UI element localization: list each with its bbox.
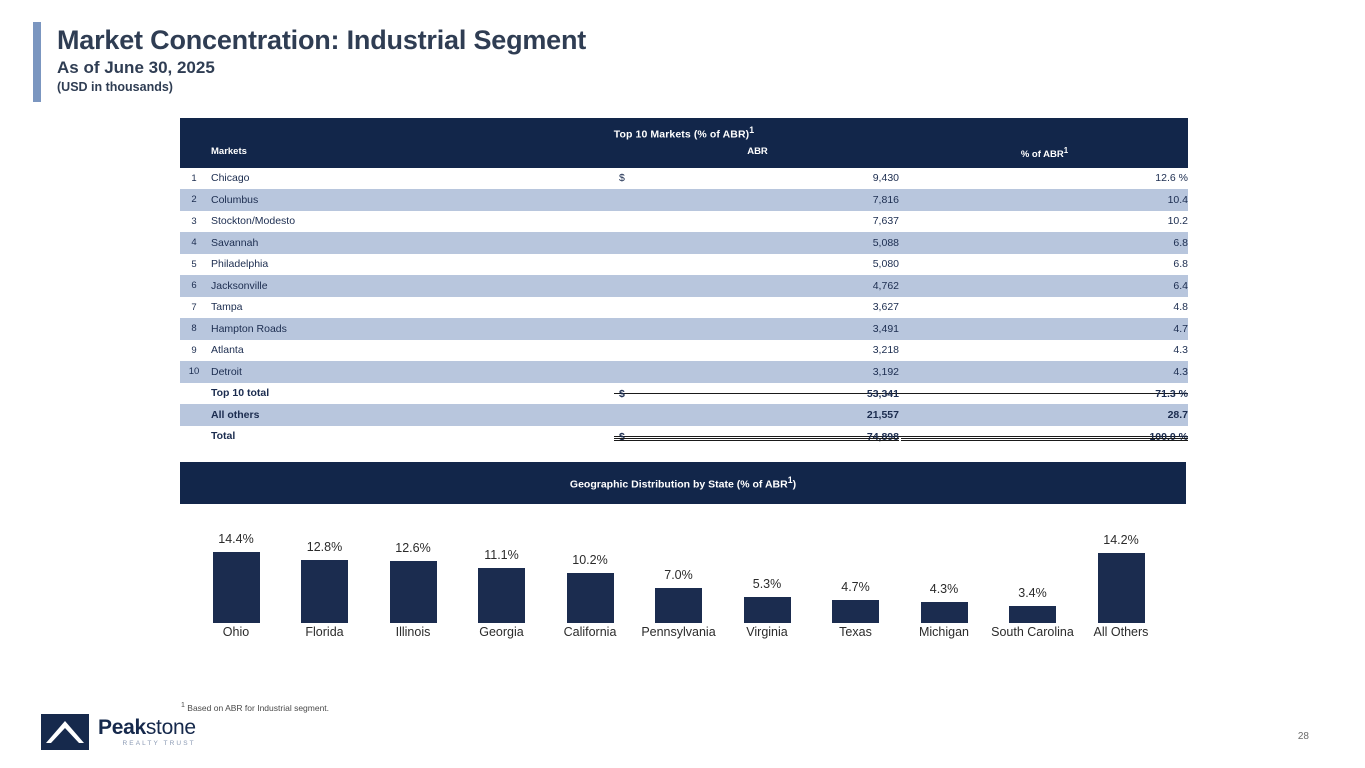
- cell-rank: 10: [180, 366, 208, 377]
- page-number: 28: [1298, 731, 1309, 742]
- cell-abr-value: 5,080: [873, 258, 899, 270]
- table-row: 2Columbus7,81610.4: [180, 189, 1188, 211]
- cell-abr-value: 5,088: [873, 237, 899, 249]
- bar: [744, 597, 791, 623]
- bar: [1098, 553, 1145, 623]
- bar-group: 3.4%South Carolina: [989, 512, 1077, 677]
- chart-title-suffix: ): [793, 479, 797, 491]
- bar-value-label: 10.2%: [546, 553, 634, 567]
- table-row: 3Stockton/Modesto7,63710.2: [180, 211, 1188, 233]
- bar-category-label: All Others: [1069, 625, 1173, 641]
- chart-title: Geographic Distribution by State (% of A…: [570, 475, 796, 491]
- cell-total-label: Top 10 total: [208, 387, 614, 399]
- cell-market: Savannah: [208, 237, 614, 249]
- cell-pct-value: 6.8: [1173, 258, 1188, 270]
- cell-rank: 1: [180, 173, 208, 184]
- table-row: 1Chicago$9,43012.6 %: [180, 168, 1188, 190]
- column-header-pct-text: % of ABR: [1021, 149, 1064, 160]
- bar-group: 14.2%All Others: [1077, 512, 1165, 677]
- bar-group: 14.4%Ohio: [192, 512, 280, 677]
- footnote-marker: 1: [181, 702, 185, 709]
- logo-tagline: REALTY TRUST: [98, 740, 196, 747]
- table-total-row-total: Total$74,898100.0 %: [180, 426, 1188, 448]
- bar-group: 10.2%California: [546, 512, 634, 677]
- slide-root: Market Concentration: Industrial Segment…: [0, 0, 1365, 768]
- cell-pct-value: 10.2: [1168, 215, 1188, 227]
- table-row: 8Hampton Roads3,4914.7: [180, 318, 1188, 340]
- cell-abr-value: 7,816: [873, 194, 899, 206]
- bar: [1009, 606, 1056, 623]
- cell-total-pct-value: 71.3 %: [1155, 388, 1188, 400]
- cell-market: Columbus: [208, 194, 614, 206]
- cell-market: Stockton/Modesto: [208, 215, 614, 227]
- cell-total-label: All others: [208, 409, 614, 421]
- cell-rank: 2: [180, 194, 208, 205]
- bar-group: 7.0%Pennsylvania: [635, 512, 723, 677]
- cell-pct-value: 6.8: [1173, 237, 1188, 249]
- bar-group: 4.7%Texas: [812, 512, 900, 677]
- cell-pct-value: 4.3: [1173, 344, 1188, 356]
- table-row: 5Philadelphia5,0806.8: [180, 254, 1188, 276]
- cell-market: Tampa: [208, 301, 614, 313]
- bar-group: 4.3%Michigan: [900, 512, 988, 677]
- title-block: Market Concentration: Industrial Segment…: [57, 25, 586, 94]
- page-units-note: (USD in thousands): [57, 80, 586, 94]
- cell-total-abr: $53,341: [614, 393, 901, 394]
- peakstone-mark-icon: [41, 714, 89, 750]
- bar-value-label: 11.1%: [458, 548, 546, 562]
- cell-total-label: Total: [208, 430, 614, 442]
- cell-market: Atlanta: [208, 344, 614, 356]
- column-header-pct-footnote-marker: 1: [1064, 146, 1068, 155]
- cell-pct-value: 6.4: [1173, 280, 1188, 292]
- cell-pct-value: 10.4: [1168, 194, 1188, 206]
- cell-total-abr-value: 74,898: [867, 431, 899, 443]
- table-total-row-all-others: All others21,55728.7: [180, 404, 1188, 426]
- cell-pct-value: 4.8: [1173, 301, 1188, 313]
- currency-symbol: $: [619, 431, 625, 443]
- peak-triangle-icon: [41, 714, 89, 750]
- cell-market: Jacksonville: [208, 280, 614, 292]
- cell-abr-value: 3,627: [873, 301, 899, 313]
- bar: [832, 600, 879, 623]
- cell-rank: 7: [180, 302, 208, 313]
- table-row: 6Jacksonville4,7626.4: [180, 275, 1188, 297]
- cell-abr-value: 7,637: [873, 215, 899, 227]
- logo-word-bold: Peak: [98, 716, 146, 739]
- page-subtitle: As of June 30, 2025: [57, 58, 586, 78]
- chart-header-band: Geographic Distribution by State (% of A…: [180, 462, 1186, 504]
- top-markets-table: Top 10 Markets (% of ABR)1 Markets ABR %…: [180, 118, 1188, 447]
- bar-value-label: 4.3%: [900, 582, 988, 596]
- cell-total-pct: 100.0 %: [901, 436, 1188, 437]
- cell-rank: 4: [180, 237, 208, 248]
- bar-group: 12.8%Florida: [281, 512, 369, 677]
- table-header-band: Top 10 Markets (% of ABR)1 Markets ABR %…: [180, 118, 1188, 168]
- cell-pct-value: 4.3: [1173, 366, 1188, 378]
- logo-word-light: stone: [146, 716, 196, 739]
- column-header-abr: ABR: [614, 146, 901, 160]
- table-band-title: Top 10 Markets (% of ABR)1: [180, 118, 1188, 146]
- cell-market: Hampton Roads: [208, 323, 614, 335]
- cell-abr-value: 3,192: [873, 366, 899, 378]
- cell-total-abr-value: 53,341: [867, 388, 899, 400]
- title-accent-bar: [33, 22, 41, 102]
- cell-abr-value: 4,762: [873, 280, 899, 292]
- bar: [921, 602, 968, 623]
- company-logo: Peakstone REALTY TRUST: [41, 714, 196, 750]
- bar: [655, 588, 702, 623]
- cell-pct-value: 4.7: [1173, 323, 1188, 335]
- cell-total-pct-value: 28.7: [1168, 409, 1188, 421]
- page-title: Market Concentration: Industrial Segment: [57, 25, 586, 55]
- bar-series: 14.4%Ohio12.8%Florida12.6%Illinois11.1%G…: [180, 512, 1186, 677]
- logo-wordmark: Peakstone REALTY TRUST: [98, 717, 196, 747]
- cell-total-pct: 71.3 %: [901, 393, 1188, 394]
- table-total-row-top10: Top 10 total$53,34171.3 %: [180, 383, 1188, 405]
- table-column-headers: Markets ABR % of ABR1: [180, 146, 1188, 168]
- double-rule: [614, 438, 899, 441]
- bar-value-label: 12.8%: [281, 540, 369, 554]
- bar: [567, 573, 614, 623]
- cell-market: Philadelphia: [208, 258, 614, 270]
- geographic-distribution-chart: 14.4%Ohio12.8%Florida12.6%Illinois11.1%G…: [180, 512, 1186, 677]
- bar-value-label: 12.6%: [369, 541, 457, 555]
- cell-abr-value: 9,430: [873, 172, 899, 184]
- table-row: 9Atlanta3,2184.3: [180, 340, 1188, 362]
- cell-total-abr-value: 21,557: [867, 409, 899, 421]
- bar-value-label: 14.2%: [1077, 533, 1165, 547]
- bar: [390, 561, 437, 623]
- cell-rank: 6: [180, 280, 208, 291]
- column-header-markets: Markets: [208, 146, 614, 160]
- chart-title-text: Geographic Distribution by State (% of A…: [570, 479, 788, 491]
- table-band-title-footnote-marker: 1: [749, 125, 754, 135]
- double-rule: [901, 438, 1188, 441]
- bar: [301, 560, 348, 623]
- bar: [213, 552, 260, 623]
- cell-rank: 8: [180, 323, 208, 334]
- table-row: 4Savannah5,0886.8: [180, 232, 1188, 254]
- column-header-rank: [180, 146, 208, 160]
- cell-total-abr: $74,898: [614, 436, 901, 437]
- cell-abr-value: 3,491: [873, 323, 899, 335]
- cell-pct-value: 12.6 %: [1155, 172, 1188, 184]
- bar-value-label: 14.4%: [192, 532, 280, 546]
- bar-group: 5.3%Virginia: [723, 512, 811, 677]
- cell-total-pct-value: 100.0 %: [1149, 431, 1188, 443]
- bar: [478, 568, 525, 623]
- currency-symbol: $: [619, 388, 625, 400]
- cell-rank: 9: [180, 345, 208, 356]
- table-body: 1Chicago$9,43012.6 %2Columbus7,81610.43S…: [180, 168, 1188, 448]
- footnote-text: Based on ABR for Industrial segment.: [187, 703, 329, 713]
- bar-group: 12.6%Illinois: [369, 512, 457, 677]
- cell-market: Chicago: [208, 172, 614, 184]
- cell-abr-value: 3,218: [873, 344, 899, 356]
- bar-value-label: 4.7%: [812, 580, 900, 594]
- bar-value-label: 5.3%: [723, 577, 811, 591]
- column-header-pct: % of ABR1: [901, 146, 1188, 160]
- footnote: 1 Based on ABR for Industrial segment.: [181, 702, 329, 713]
- logo-word: Peakstone: [98, 717, 196, 738]
- cell-market: Detroit: [208, 366, 614, 378]
- bar-group: 11.1%Georgia: [458, 512, 546, 677]
- table-row: 10Detroit3,1924.3: [180, 361, 1188, 383]
- currency-symbol: $: [619, 172, 625, 184]
- cell-rank: 5: [180, 259, 208, 270]
- cell-rank: 3: [180, 216, 208, 227]
- bar-value-label: 3.4%: [989, 586, 1077, 600]
- table-row: 7Tampa3,6274.8: [180, 297, 1188, 319]
- table-band-title-text: Top 10 Markets (% of ABR): [614, 129, 750, 141]
- bar-value-label: 7.0%: [635, 568, 723, 582]
